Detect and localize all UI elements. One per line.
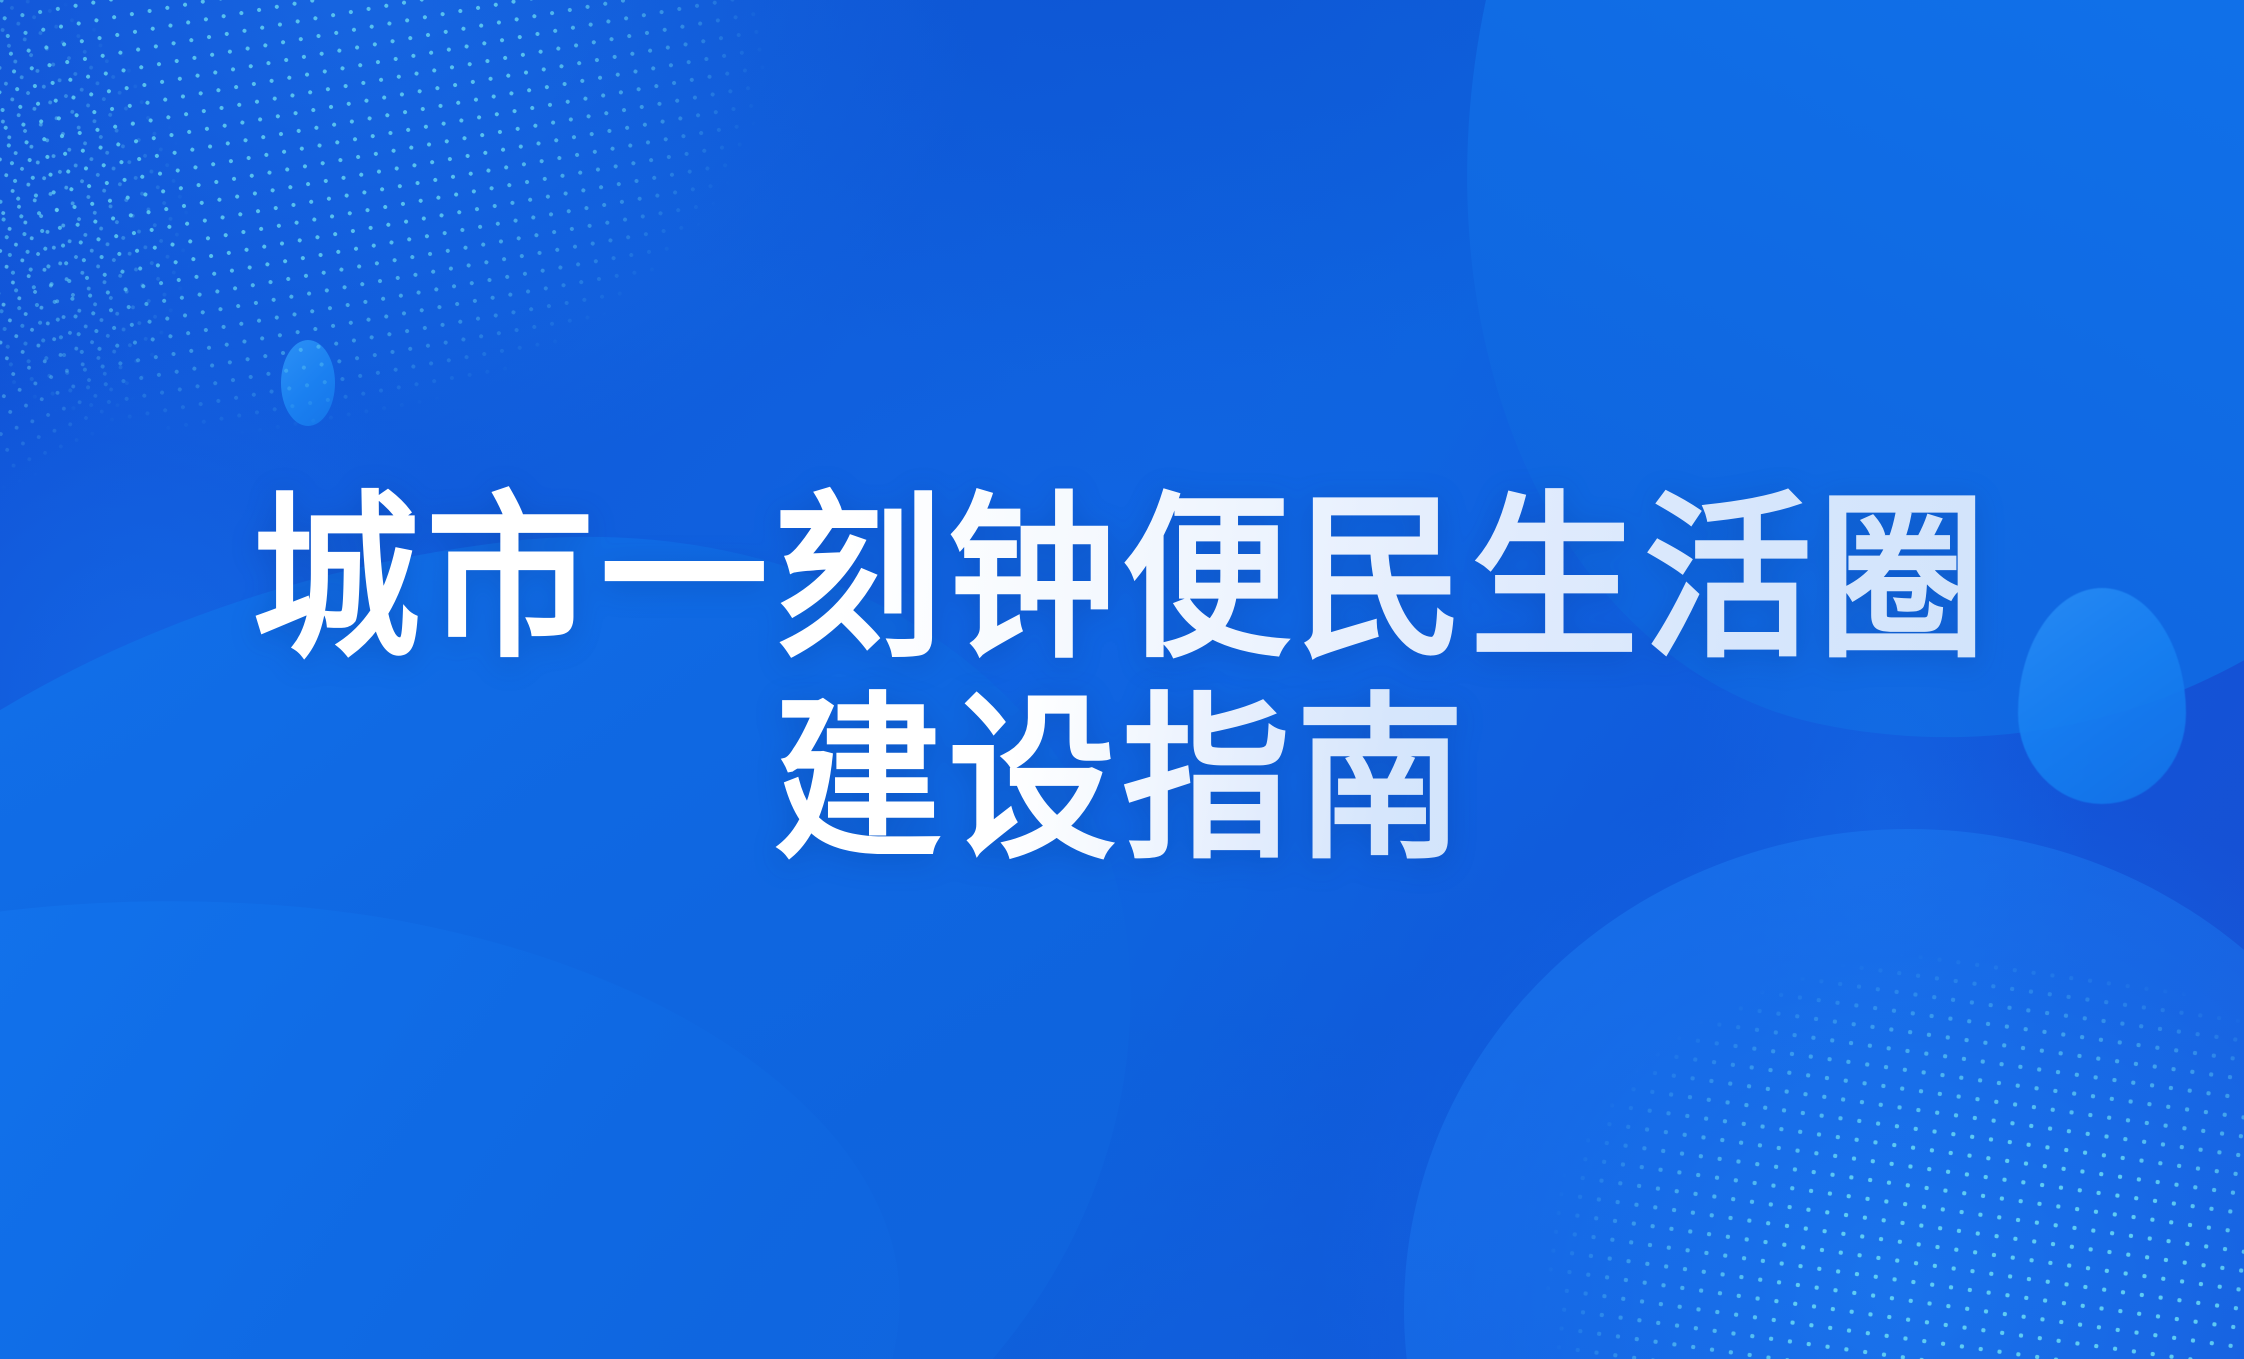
- poster-title-line-1: 城市一刻钟便民生活圈: [252, 480, 1992, 679]
- poster-title-line-2: 建设指南: [774, 680, 1470, 879]
- poster-banner: 城市一刻钟便民生活圈 建设指南: [0, 0, 2244, 1359]
- poster-title-block: 城市一刻钟便民生活圈 建设指南: [0, 0, 2244, 1359]
